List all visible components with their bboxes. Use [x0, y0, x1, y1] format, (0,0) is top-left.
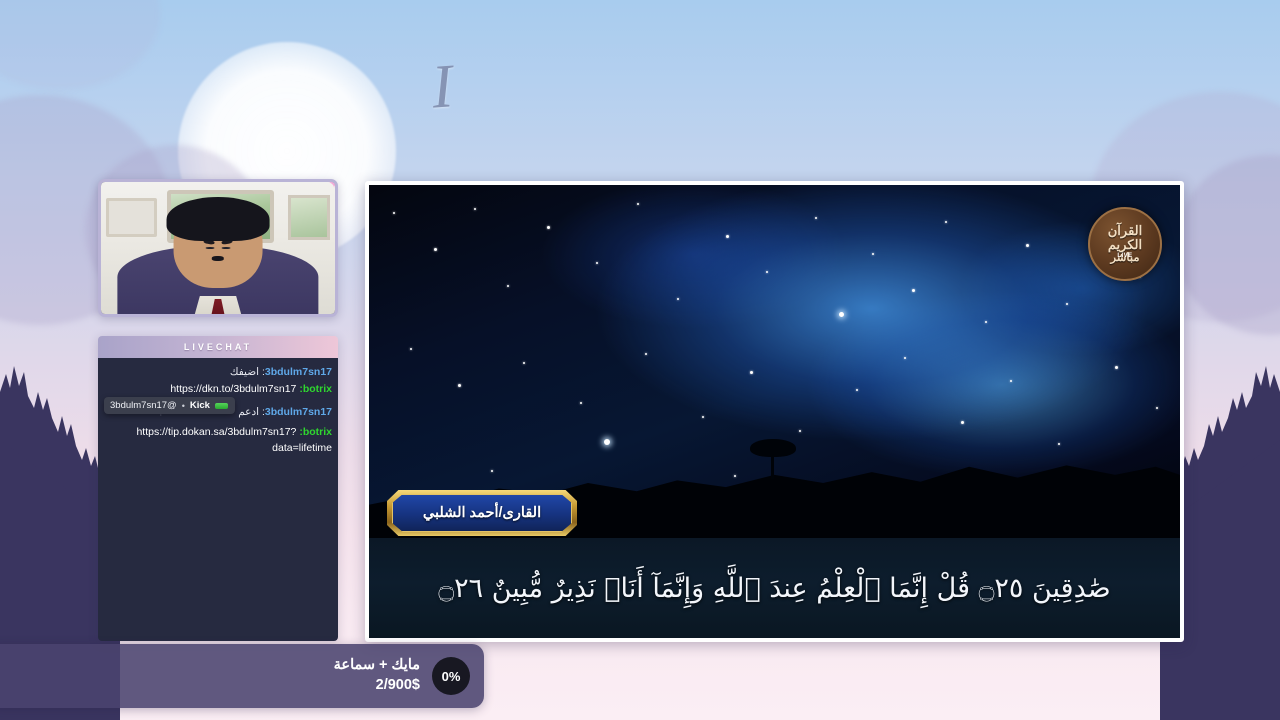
chat-username[interactable]: 3bdulm7sn17 — [265, 366, 332, 378]
goal-amount: 2/900$ — [334, 676, 420, 696]
channel-watermark: I — [430, 51, 456, 123]
chat-username[interactable]: :botrix — [299, 383, 332, 395]
webcam-person-eye — [222, 247, 231, 249]
chat-text: اضيفك — [230, 366, 259, 378]
chat-username[interactable]: 3bdulm7sn17 — [265, 406, 332, 418]
kick-badge-icon — [215, 403, 228, 409]
tree-trunk — [771, 453, 774, 479]
livechat-header: LIVECHAT — [98, 336, 338, 358]
goal-title: مايك + سماعة — [334, 656, 420, 676]
chat-text-continued: data=lifetime — [104, 442, 332, 454]
live-badge: LIVE — [1117, 253, 1132, 259]
goal-text-group: مايك + سماعة 2/900$ — [334, 656, 420, 695]
webcam-overlay[interactable]: ✦ — [98, 179, 338, 317]
chat-text[interactable]: https://tip.dokan.sa/3bdulm7sn17? — [136, 426, 296, 438]
chat-username[interactable]: :botrix — [299, 426, 332, 438]
sparkle-icon: ✦ — [326, 179, 338, 192]
tooltip-handle: 3bdulm7sn17@ — [110, 400, 177, 411]
plate-inner-panel: القارى/أحمد الشلبي — [392, 494, 572, 532]
chat-message: 3bdulm7sn17: اضيفك — [104, 365, 332, 380]
donation-goal-bar: مايك + سماعة 2/900$ 0% — [0, 644, 484, 708]
logo-line-1: القرآن — [1108, 224, 1142, 238]
chat-text[interactable]: https://dkn.to/3bdulm7sn17 — [170, 383, 296, 395]
reciter-name: القارى/أحمد الشلبي — [423, 505, 541, 521]
tooltip-platform: Kick — [190, 400, 210, 411]
webcam-window-right — [288, 195, 330, 240]
video-player[interactable]: القرآن الكريم مباشر LIVE القارى/أحمد الش… — [365, 181, 1184, 642]
webcam-person-moustache — [212, 256, 224, 260]
quran-live-logo: القرآن الكريم مباشر LIVE — [1088, 207, 1162, 281]
goal-percent-badge: 0% — [432, 657, 470, 695]
logo-line-2: الكريم — [1108, 238, 1142, 252]
webcam-person-eye — [206, 247, 215, 249]
webcam-person-hair — [167, 197, 270, 242]
tree-silhouette — [750, 439, 796, 477]
livechat-messages[interactable]: 3bdulm7sn17: اضيفك https://dkn.to/3bdulm… — [98, 358, 338, 641]
reciter-name-plate: القارى/أحمد الشلبي — [387, 490, 577, 536]
kick-account-tooltip[interactable]: 3bdulm7sn17@ • Kick — [104, 397, 235, 414]
chat-message: https://dkn.to/3bdulm7sn17 :botrix — [104, 382, 332, 397]
livechat-panel[interactable]: LIVECHAT 3bdulm7sn17: اضيفك https://dkn.… — [98, 336, 338, 641]
webcam-wall-frame — [106, 198, 157, 238]
chat-text: ادعم — [238, 406, 259, 418]
livechat-title: LIVECHAT — [184, 342, 252, 352]
tooltip-separator: • — [182, 401, 185, 411]
chat-message: https://tip.dokan.sa/3bdulm7sn17? :botri… — [104, 425, 332, 440]
quran-verse-text: صَٰدِقِينَ ۝٢٥ قُلْ إِنَّمَا ٱلْعِلْمُ ع… — [369, 573, 1180, 604]
